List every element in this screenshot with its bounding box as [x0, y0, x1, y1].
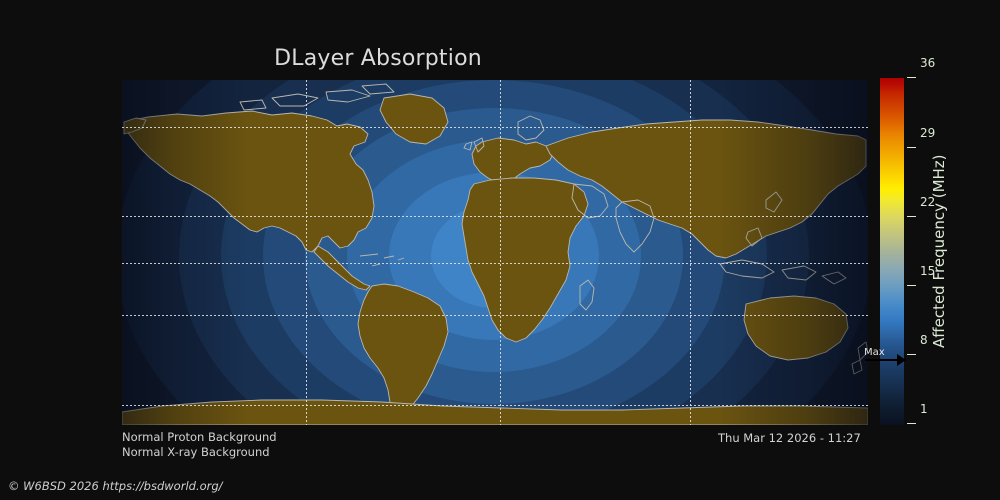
colorbar-tick-1 [907, 423, 916, 424]
colorbar-tick-22 [907, 216, 916, 217]
screenshot-root: DLayer Absorption [0, 0, 1000, 500]
max-value-marker: Max [864, 348, 912, 366]
colorbar-label-1: 1 [920, 402, 928, 416]
status-xray-background: Normal X-ray Background [122, 445, 277, 460]
page-title-text: DLayer Absorption [274, 46, 482, 71]
colorbar-label-8: 8 [920, 333, 928, 347]
colorbar-tick-29 [907, 147, 916, 148]
colorbar-gradient [880, 78, 904, 425]
colorbar-label-36: 36 [920, 56, 935, 70]
max-marker-label: Max [864, 347, 885, 358]
colorbar-axis-label: Affected Frequency (MHz) [929, 78, 949, 425]
page-title: DLayer Absorption [0, 46, 1000, 71]
world-map[interactable] [122, 80, 868, 425]
max-marker-arrow-shaft [865, 359, 899, 361]
colorbar-tick-15 [907, 285, 916, 286]
colorbar[interactable]: 36 29 22 15 8 1 [880, 78, 904, 425]
colorbar-tick-36 [907, 77, 916, 78]
status-block: Normal Proton Background Normal X-ray Ba… [122, 430, 277, 460]
max-marker-arrow-head [897, 354, 906, 366]
timestamp: Thu Mar 12 2026 - 11:27 [718, 431, 861, 445]
copyright-notice: © W6BSD 2026 https://bsdworld.org/ [8, 479, 223, 493]
status-proton-background: Normal Proton Background [122, 430, 277, 445]
terminator-shading [122, 80, 868, 425]
